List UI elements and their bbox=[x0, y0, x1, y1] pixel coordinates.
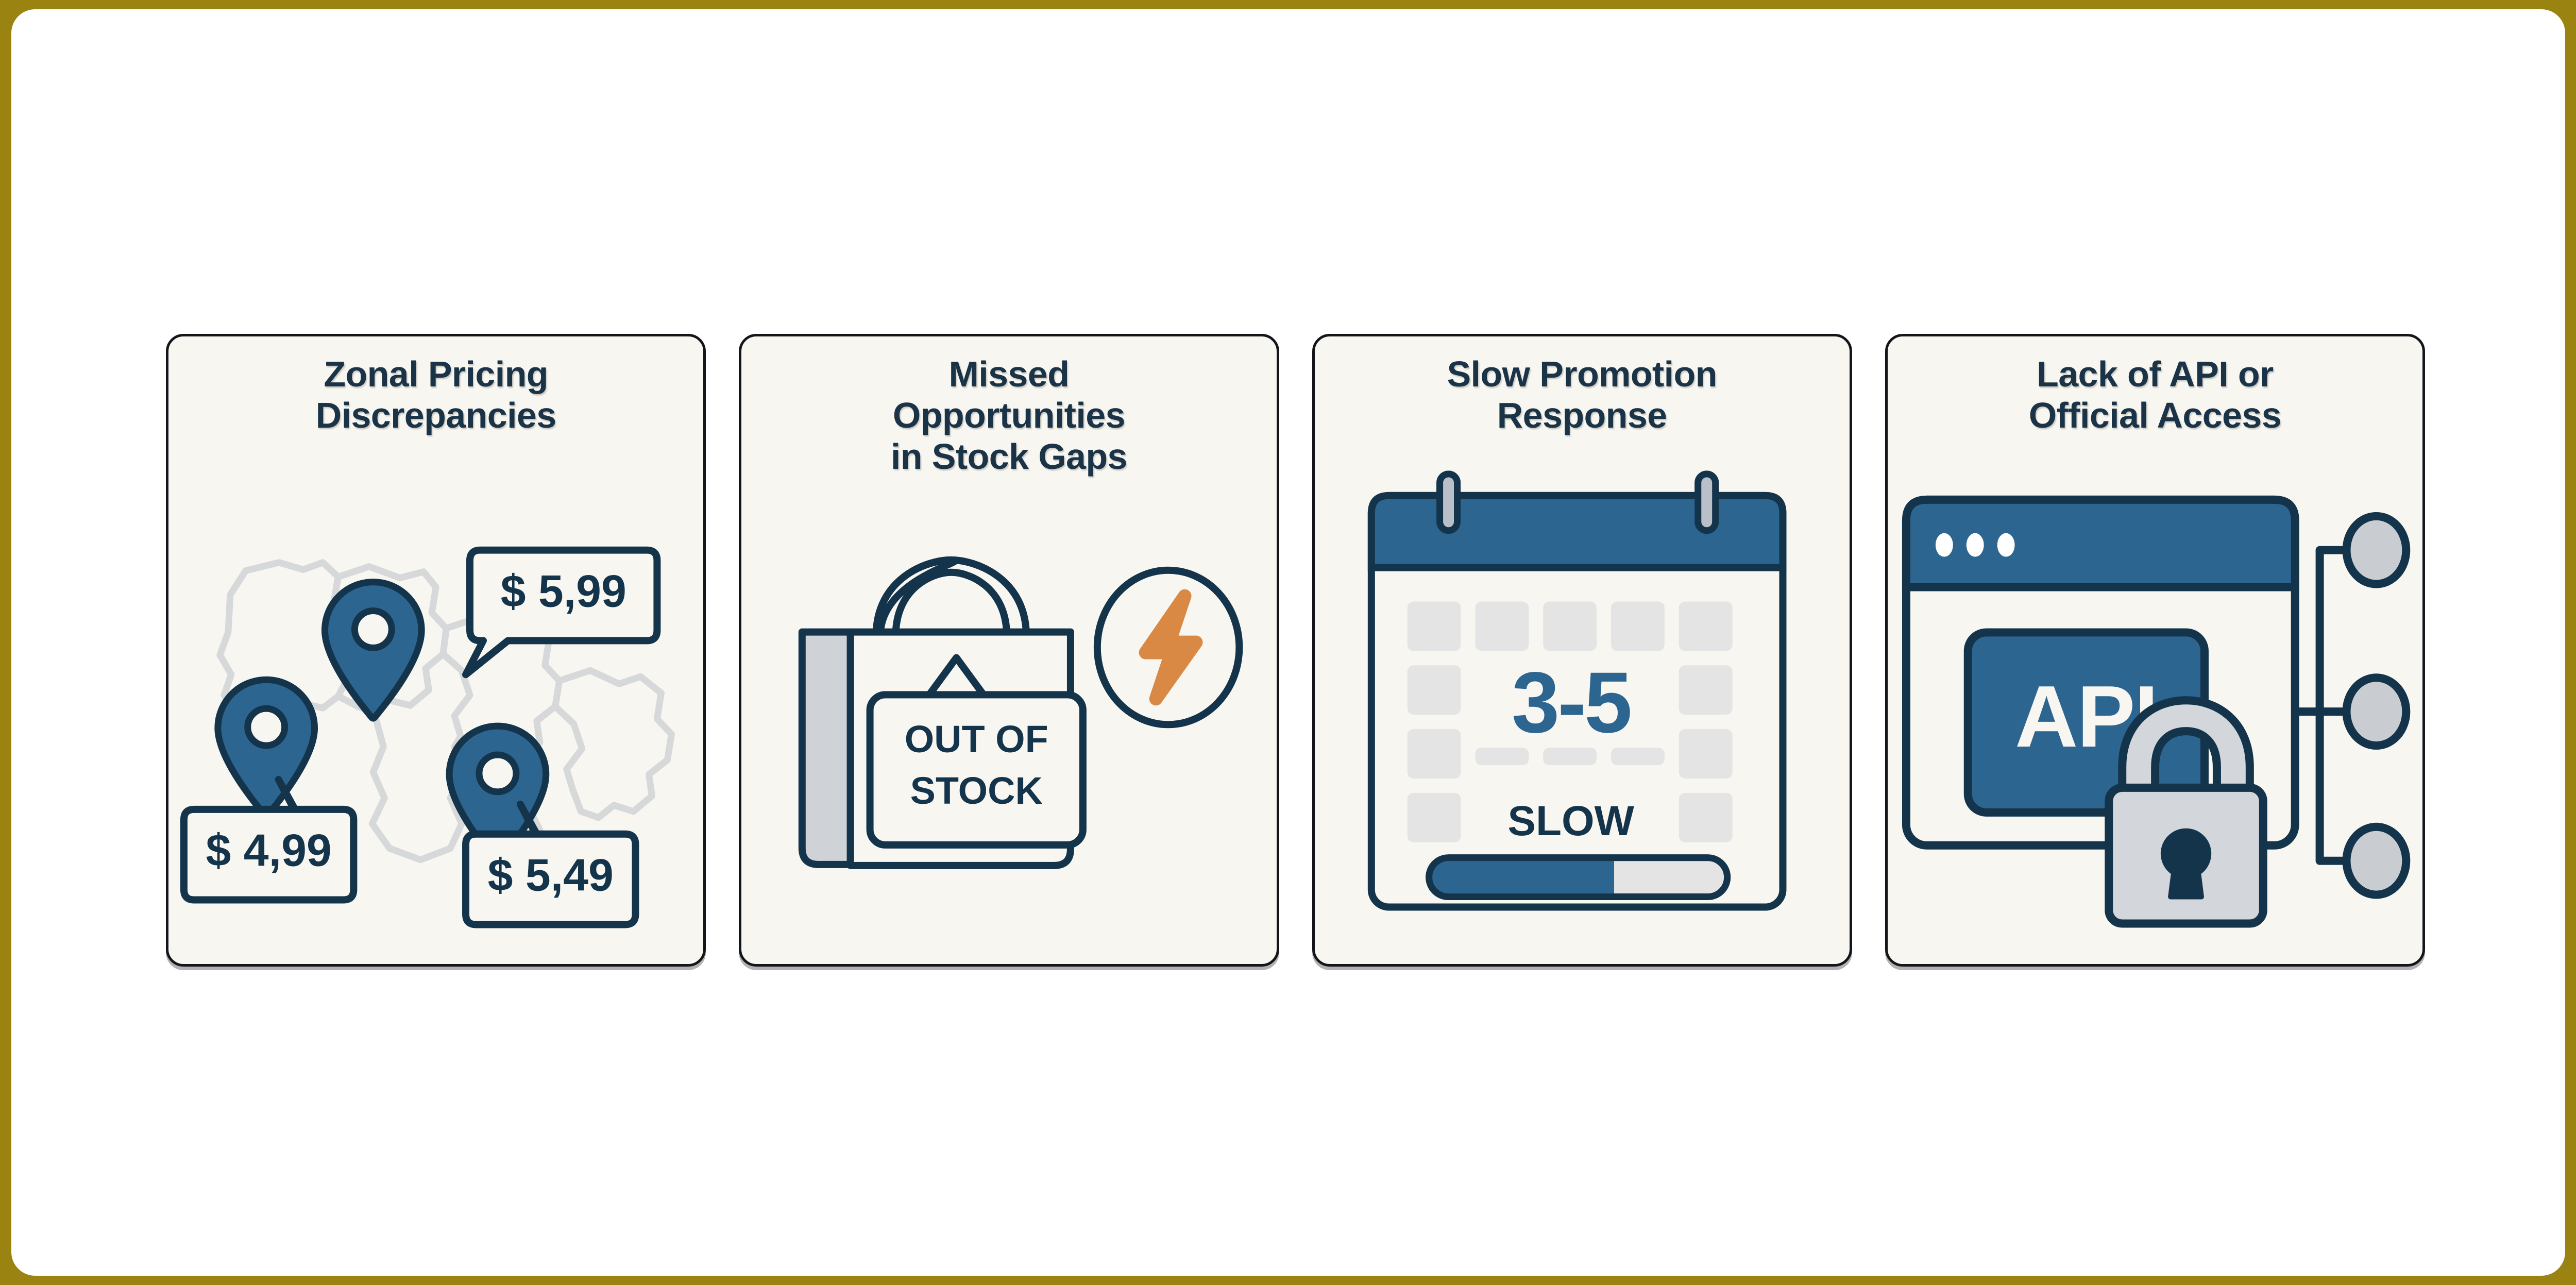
price-label: $ 5,99 bbox=[501, 565, 626, 616]
calendar-header bbox=[1371, 495, 1783, 567]
card-slow-promotion[interactable]: Slow PromotionResponse bbox=[1312, 334, 1852, 967]
out-of-stock-line2: STOCK bbox=[910, 769, 1043, 812]
window-dots bbox=[1936, 533, 2015, 556]
padlock-icon bbox=[2109, 700, 2263, 923]
card-lack-of-api[interactable]: Lack of API orOfficial Access bbox=[1885, 334, 2425, 967]
price-label: $ 5,49 bbox=[488, 849, 614, 900]
shopping-bag-out-of-stock-icon: OUT OF STOCK bbox=[741, 477, 1276, 964]
card-missed-opportunities[interactable]: MissedOpportunitiesin Stock Gaps bbox=[739, 334, 1279, 967]
calendar-icon: 3-5 SLOW bbox=[1315, 436, 1850, 964]
browser-titlebar bbox=[1906, 499, 2295, 587]
progress-bar bbox=[1429, 857, 1727, 897]
network-node bbox=[2346, 826, 2406, 894]
card-title-slow-promotion: Slow PromotionResponse bbox=[1336, 354, 1828, 436]
out-of-stock-line1: OUT OF bbox=[905, 718, 1048, 761]
network-node bbox=[2346, 678, 2406, 746]
price-label: $ 4,99 bbox=[206, 824, 332, 875]
price-bubble: $ 5,99 bbox=[466, 550, 657, 674]
lightning-bolt-icon bbox=[1097, 570, 1240, 724]
card-row: Zonal PricingDiscrepancies bbox=[166, 334, 2425, 967]
page-frame: Zonal PricingDiscrepancies bbox=[11, 9, 2565, 1276]
network-node bbox=[2346, 516, 2406, 584]
progress-fill bbox=[1429, 857, 1614, 897]
days-value: 3-5 bbox=[1511, 654, 1630, 751]
keyhole bbox=[2163, 831, 2209, 897]
card-title-missed-opportunities: MissedOpportunitiesin Stock Gaps bbox=[763, 354, 1255, 477]
map-pin bbox=[218, 680, 315, 816]
card-title-zonal-pricing: Zonal PricingDiscrepancies bbox=[190, 354, 682, 436]
node-connectors bbox=[2294, 550, 2350, 860]
card-title-lack-of-api: Lack of API orOfficial Access bbox=[1909, 354, 2401, 436]
browser-window-with-lock-icon: API bbox=[1888, 436, 2422, 964]
card-zonal-pricing[interactable]: Zonal PricingDiscrepancies bbox=[166, 334, 706, 967]
map-with-price-pins-icon: $ 5,99 $ 4,99 $ 5,49 bbox=[168, 436, 703, 964]
speed-label: SLOW bbox=[1507, 797, 1634, 844]
